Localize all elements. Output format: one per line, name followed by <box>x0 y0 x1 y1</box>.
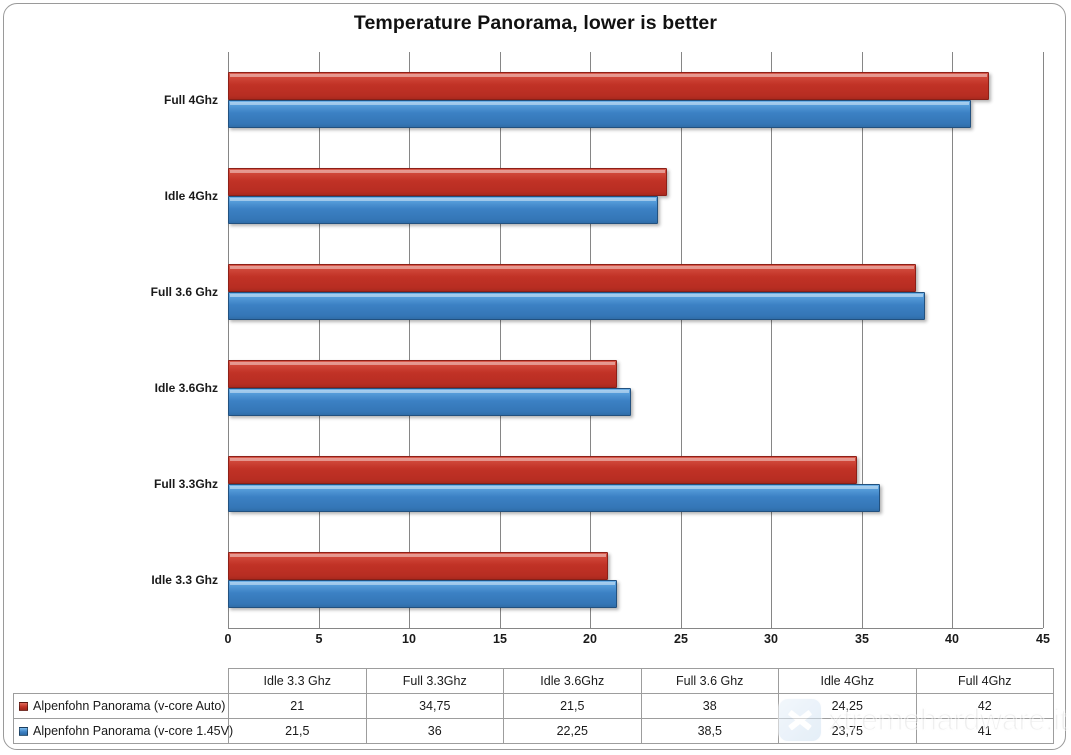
gridline <box>771 52 772 628</box>
bar-fill <box>228 72 989 100</box>
gridline <box>319 52 320 628</box>
bar-highlight <box>230 294 923 297</box>
legend-series-label: Alpenfohn Panorama (v-core Auto) <box>14 694 229 719</box>
y-axis-category-label: Idle 3.3 Ghz <box>28 573 218 587</box>
x-axis-tick-label: 5 <box>316 632 323 646</box>
table-cell: 42 <box>916 694 1054 719</box>
bar-highlight <box>230 102 969 105</box>
plot-area <box>228 52 1043 628</box>
bar <box>228 168 667 196</box>
bar-group <box>228 552 1043 608</box>
table-corner-cell <box>14 669 229 694</box>
bar-highlight <box>230 486 878 489</box>
x-axis-line <box>228 628 1043 629</box>
x-axis-tick-label: 40 <box>945 632 959 646</box>
table-cell: 34,75 <box>366 694 504 719</box>
bar-fill <box>228 360 617 388</box>
bar-group <box>228 168 1043 224</box>
x-axis-tick-label: 30 <box>764 632 778 646</box>
y-axis-category-label: Full 3.3Ghz <box>28 477 218 491</box>
x-axis-tick-label: 15 <box>493 632 507 646</box>
table-header-row: Idle 3.3 GhzFull 3.3GhzIdle 3.6GhzFull 3… <box>14 669 1054 694</box>
bar <box>228 292 925 320</box>
table-cell: 24,25 <box>779 694 917 719</box>
bar-fill <box>228 292 925 320</box>
x-axis-tick-label: 25 <box>674 632 688 646</box>
bar <box>228 456 857 484</box>
y-axis-category-label: Full 4Ghz <box>28 93 218 107</box>
bar <box>228 264 916 292</box>
chart-container: Temperature Panorama, lower is better Fu… <box>0 0 1071 755</box>
x-axis-tick-label: 35 <box>855 632 869 646</box>
table-column-header: Full 4Ghz <box>916 669 1054 694</box>
legend-series-name: Alpenfohn Panorama (v-core Auto) <box>33 699 225 713</box>
bar-highlight <box>230 362 615 365</box>
legend-series-name: Alpenfohn Panorama (v-core 1.45V) <box>33 724 233 738</box>
bar-highlight <box>230 198 656 201</box>
bar <box>228 100 971 128</box>
bar-highlight <box>230 266 914 269</box>
bar <box>228 388 631 416</box>
bar-fill <box>228 168 667 196</box>
gridline <box>862 52 863 628</box>
table-column-header: Full 3.3Ghz <box>366 669 504 694</box>
gridline <box>228 52 229 628</box>
table-cell: 36 <box>366 719 504 744</box>
legend-swatch-icon <box>19 702 28 711</box>
bar-group <box>228 456 1043 512</box>
table-column-header: Full 3.6 Ghz <box>641 669 779 694</box>
bar-highlight <box>230 582 615 585</box>
bar-fill <box>228 196 658 224</box>
bar-group <box>228 264 1043 320</box>
y-axis-category-label: Full 3.6 Ghz <box>28 285 218 299</box>
table-cell: 38 <box>641 694 779 719</box>
legend-series-label: Alpenfohn Panorama (v-core 1.45V) <box>14 719 229 744</box>
bar-highlight <box>230 74 987 77</box>
bar <box>228 360 617 388</box>
bar <box>228 552 608 580</box>
y-axis-labels: Full 4GhzIdle 4GhzFull 3.6 GhzIdle 3.6Gh… <box>20 52 218 628</box>
gridline <box>1043 52 1044 628</box>
table-cell: 21,5 <box>504 694 642 719</box>
gridline <box>952 52 953 628</box>
table-cell: 21,5 <box>229 719 367 744</box>
bar-fill <box>228 484 880 512</box>
bar-highlight <box>230 170 665 173</box>
y-axis-category-label: Idle 4Ghz <box>28 189 218 203</box>
table-cell: 38,5 <box>641 719 779 744</box>
gridline <box>681 52 682 628</box>
chart-title: Temperature Panorama, lower is better <box>0 12 1071 35</box>
table-cell: 22,25 <box>504 719 642 744</box>
y-axis-category-label: Idle 3.6Ghz <box>28 381 218 395</box>
bar-highlight <box>230 554 606 557</box>
table-column-header: Idle 3.6Ghz <box>504 669 642 694</box>
table-row: Alpenfohn Panorama (v-core 1.45V)21,5362… <box>14 719 1054 744</box>
x-axis-tick-labels: 051015202530354045 <box>228 632 1043 652</box>
x-axis-tick-label: 0 <box>225 632 232 646</box>
x-axis-tick-label: 10 <box>402 632 416 646</box>
data-table: Idle 3.3 GhzFull 3.3GhzIdle 3.6GhzFull 3… <box>13 668 1054 744</box>
table-column-header: Idle 4Ghz <box>779 669 917 694</box>
bar-fill <box>228 100 971 128</box>
bar <box>228 72 989 100</box>
table-column-header: Idle 3.3 Ghz <box>229 669 367 694</box>
bar-group <box>228 360 1043 416</box>
bar-highlight <box>230 458 855 461</box>
bar-fill <box>228 388 631 416</box>
bar <box>228 580 617 608</box>
bar-highlight <box>230 390 629 393</box>
bar-fill <box>228 264 916 292</box>
table-cell: 21 <box>229 694 367 719</box>
bar-group <box>228 72 1043 128</box>
table-row: Alpenfohn Panorama (v-core Auto)2134,752… <box>14 694 1054 719</box>
bar-fill <box>228 580 617 608</box>
bar <box>228 196 658 224</box>
gridline <box>409 52 410 628</box>
bar-fill <box>228 456 857 484</box>
bar <box>228 484 880 512</box>
gridline <box>500 52 501 628</box>
bar-fill <box>228 552 608 580</box>
gridline <box>590 52 591 628</box>
x-axis-tick-label: 45 <box>1036 632 1050 646</box>
table-cell: 23,75 <box>779 719 917 744</box>
legend-swatch-icon <box>19 727 28 736</box>
x-axis-tick-label: 20 <box>583 632 597 646</box>
table-cell: 41 <box>916 719 1054 744</box>
